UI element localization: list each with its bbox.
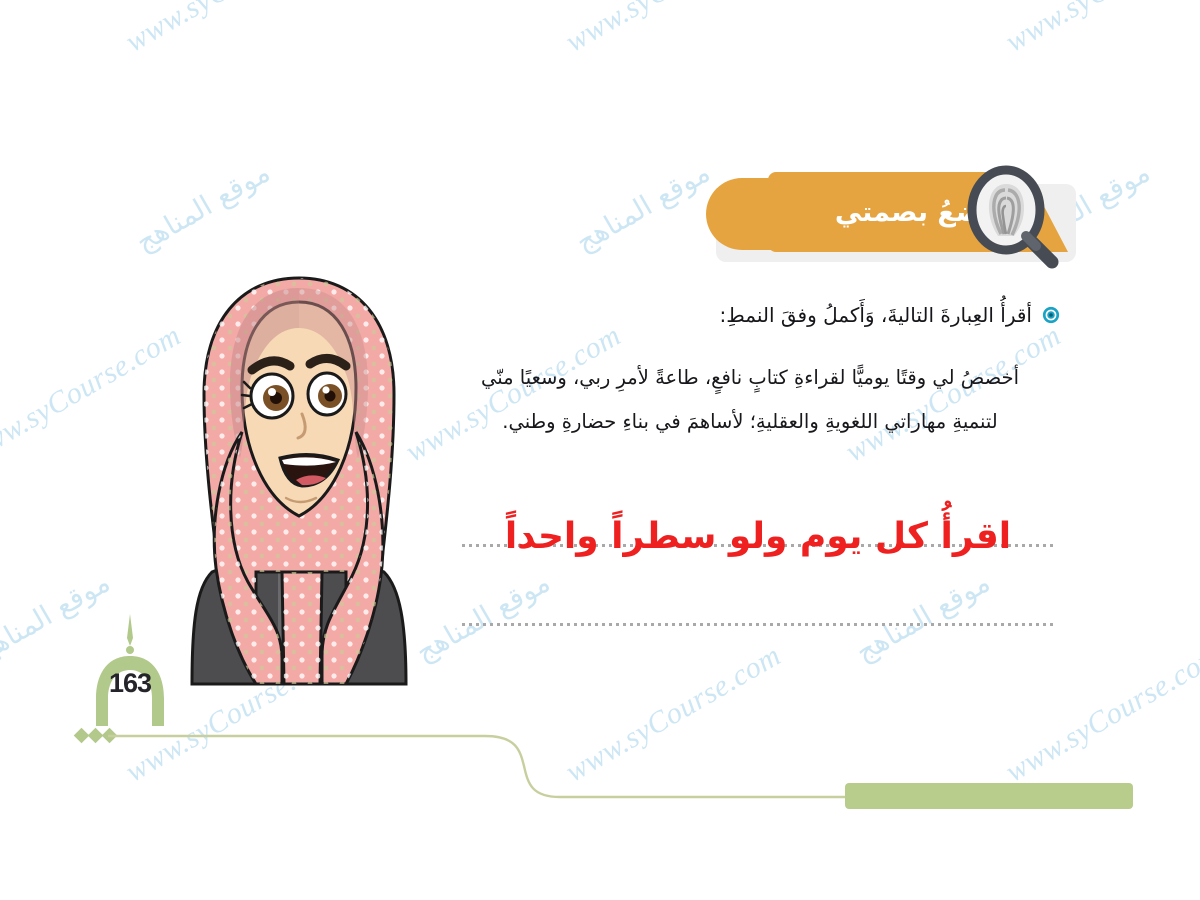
passage-line-1: أخصصُ لي وقتًا يوميًّا لقراءةِ كتابٍ ناف… bbox=[440, 356, 1060, 400]
watermark-arabic: موقع المناهج bbox=[130, 156, 276, 259]
section-banner: أضعُ بصمتي bbox=[706, 172, 1086, 272]
watermark-arabic: موقع المناهج bbox=[570, 156, 716, 259]
watermark-latin: www.syCourse.com bbox=[0, 319, 187, 470]
page-number: 163 bbox=[82, 668, 178, 699]
passage-paragraph: أخصصُ لي وقتًا يوميًّا لقراءةِ كتابٍ ناف… bbox=[440, 356, 1060, 444]
page-number-arch: 163 bbox=[82, 612, 178, 736]
instruction-text: أقرأُ العِبارةَ التاليةَ، وَأَكملُ وفقَ … bbox=[720, 300, 1032, 330]
answer-area[interactable]: اقرأُ كل يوم ولو سطراً واحداً bbox=[462, 518, 1054, 638]
magnifier-fingerprint-icon bbox=[956, 164, 1066, 274]
watermark-latin: www.syCourse.com bbox=[120, 0, 347, 59]
watermark-latin: www.syCourse.com bbox=[1000, 0, 1200, 59]
writing-line-2 bbox=[462, 623, 1054, 626]
target-circle-bullet-icon bbox=[1042, 306, 1060, 328]
instruction-row: أقرأُ العِبارةَ التاليةَ، وَأَكملُ وفقَ … bbox=[440, 300, 1060, 330]
worksheet-page: www.syCourse.com www.syCourse.com www.sy… bbox=[0, 0, 1200, 900]
smiling-girl-hijab-illustration bbox=[186, 272, 412, 708]
footer-decoration bbox=[0, 700, 1200, 840]
watermark-latin: www.syCourse.com bbox=[560, 0, 787, 59]
content-column: أقرأُ العِبارةَ التاليةَ، وَأَكملُ وفقَ … bbox=[440, 300, 1060, 444]
answer-text[interactable]: اقرأُ كل يوم ولو سطراً واحداً bbox=[462, 514, 1054, 560]
passage-line-2: لتنميةِ مهاراتي اللغويةِ والعقليةِ؛ لأسا… bbox=[440, 400, 1060, 444]
